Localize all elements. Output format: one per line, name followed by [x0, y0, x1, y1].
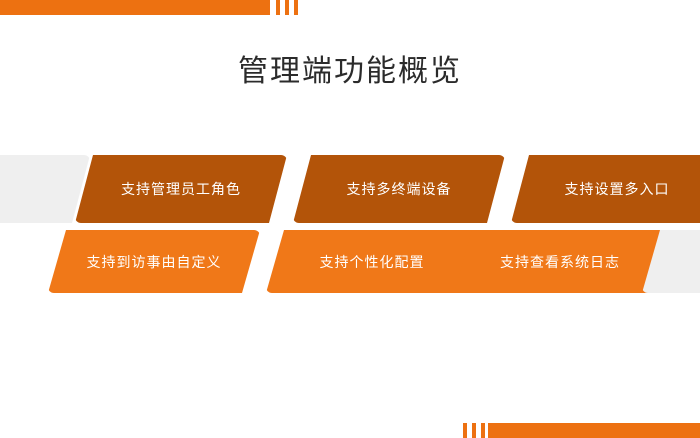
feature-card-label: 支持管理员工角色	[121, 179, 241, 199]
feature-card-label: 支持到访事由自定义	[87, 252, 222, 272]
feature-card-label: 支持设置多入口	[565, 179, 670, 199]
bottom-stripe-1	[463, 423, 467, 438]
bottom-stripe-2	[472, 423, 476, 438]
decorative-shape-left	[0, 155, 90, 223]
bottom-stripe-3	[481, 423, 485, 438]
page-title: 管理端功能概览	[0, 52, 700, 92]
feature-card-view-system-logs[interactable]: 支持查看系统日志	[454, 230, 666, 293]
top-stripe-1	[276, 0, 280, 15]
feature-card-label: 支持个性化配置	[320, 252, 425, 272]
bottom-decoration	[0, 418, 700, 438]
feature-card-personalized-config[interactable]: 支持个性化配置	[266, 230, 478, 293]
top-stripe-3	[294, 0, 298, 15]
feature-card-label: 支持查看系统日志	[500, 252, 620, 272]
slide-canvas: 管理端功能概览 支持管理员工角色 支持多终端设备 支持设置多入口 支持到访事由自…	[0, 0, 700, 438]
bottom-accent-bar	[488, 423, 700, 438]
top-accent-bar	[0, 0, 270, 15]
top-stripe-2	[285, 0, 289, 15]
feature-card-support-admin-roles[interactable]: 支持管理员工角色	[75, 155, 287, 223]
feature-row-1: 支持管理员工角色 支持多终端设备 支持设置多入口	[0, 155, 700, 223]
feature-row-2: 支持到访事由自定义 支持个性化配置 支持查看系统日志	[0, 230, 700, 293]
feature-card-label: 支持多终端设备	[347, 179, 452, 199]
feature-card-multi-terminal-devices[interactable]: 支持多终端设备	[293, 155, 505, 223]
feature-card-multi-entrance-setup[interactable]: 支持设置多入口	[511, 155, 700, 223]
feature-card-visit-reason-custom[interactable]: 支持到访事由自定义	[48, 230, 260, 293]
top-decoration	[0, 0, 700, 18]
